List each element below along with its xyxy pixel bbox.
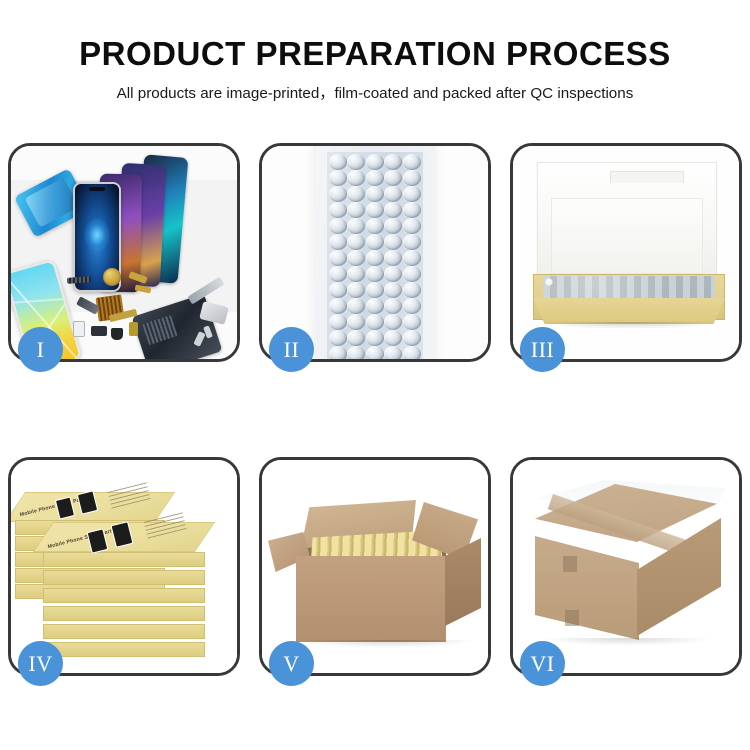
bubble	[403, 314, 421, 330]
bubble	[366, 266, 384, 282]
bubble	[366, 314, 384, 330]
bubble	[347, 282, 365, 298]
bubble	[384, 330, 402, 346]
bubble	[366, 298, 384, 314]
bubble	[403, 154, 421, 170]
bubble	[329, 234, 347, 250]
buzzer-part	[111, 328, 123, 340]
bubble	[366, 250, 384, 266]
bubble	[347, 202, 365, 218]
bubble	[329, 154, 347, 170]
box-side-face	[43, 642, 205, 657]
step-panel-6[interactable]: VI	[510, 457, 742, 676]
bubble	[384, 298, 402, 314]
bubble	[329, 282, 347, 298]
bubble	[403, 234, 421, 250]
box-side-face	[43, 552, 205, 567]
box-side-face	[43, 606, 205, 621]
charging-port-part	[129, 322, 138, 336]
process-steps-grid: I II III	[8, 143, 742, 676]
bubble	[329, 298, 347, 314]
bubble	[347, 266, 365, 282]
bubble	[403, 202, 421, 218]
bubble-wrap-bubbles	[327, 152, 423, 359]
step-badge-1: I	[18, 327, 63, 372]
bubble	[366, 282, 384, 298]
bubble	[384, 186, 402, 202]
bubble	[384, 314, 402, 330]
bubble	[347, 154, 365, 170]
bubble	[329, 186, 347, 202]
bubble	[403, 186, 421, 202]
bubble	[347, 314, 365, 330]
stacked-box	[43, 642, 205, 660]
bubble	[366, 170, 384, 186]
step-badge-5: V	[269, 641, 314, 686]
bubble	[366, 202, 384, 218]
bubble	[384, 282, 402, 298]
step-badge-6: VI	[520, 641, 565, 686]
bubble	[403, 282, 421, 298]
step-panel-5[interactable]: V	[259, 457, 491, 676]
bubble	[403, 298, 421, 314]
bubble	[384, 250, 402, 266]
carton-handle-tab	[563, 556, 577, 572]
product-preparation-infographic: PRODUCT PREPARATION PROCESS All products…	[0, 0, 750, 750]
bubble	[403, 218, 421, 234]
step-panel-1[interactable]: I	[8, 143, 240, 362]
bubble	[329, 250, 347, 266]
step-panel-4[interactable]: Mobile Phone Spare Parts	[8, 457, 240, 676]
carton-handle-tab	[565, 610, 579, 626]
bubble	[329, 170, 347, 186]
phone-notch	[89, 187, 105, 191]
bubble	[384, 154, 402, 170]
mailer-box-shadow	[535, 322, 723, 329]
bubble	[329, 346, 347, 359]
stacked-box	[43, 552, 205, 570]
bubble	[347, 346, 365, 359]
bubble	[329, 266, 347, 282]
carton-front-face	[296, 556, 446, 642]
bubble	[366, 154, 384, 170]
bubble	[366, 186, 384, 202]
mailer-box-liner	[551, 198, 703, 274]
mailer-box-lid-tab	[610, 171, 684, 183]
step-panel-3[interactable]: III	[510, 143, 742, 362]
bubble	[366, 346, 384, 359]
bubble	[403, 170, 421, 186]
bubble	[347, 170, 365, 186]
box-side-face	[43, 588, 205, 603]
bubble	[384, 170, 402, 186]
page-subtitle: All products are image-printed，film-coat…	[0, 85, 750, 103]
bubble	[366, 234, 384, 250]
bubble	[384, 234, 402, 250]
bubble	[384, 218, 402, 234]
step-badge-2: II	[269, 327, 314, 372]
step-badge-3: III	[520, 327, 565, 372]
step-badge-4: IV	[18, 641, 63, 686]
stacked-box	[43, 624, 205, 642]
vibrator-motor-part	[103, 268, 121, 286]
bubble	[347, 218, 365, 234]
box-side-face	[43, 624, 205, 639]
bubble	[403, 250, 421, 266]
bubble	[403, 346, 421, 359]
stacked-box	[43, 588, 205, 606]
bubble	[347, 330, 365, 346]
bubble	[329, 314, 347, 330]
step-panel-2[interactable]: II	[259, 143, 491, 362]
bubble	[347, 186, 365, 202]
bubble	[347, 250, 365, 266]
speaker-part	[91, 326, 107, 336]
bubble	[403, 330, 421, 346]
bubble	[384, 346, 402, 359]
carton-shadow	[298, 640, 478, 648]
bubble	[384, 266, 402, 282]
bubble	[347, 298, 365, 314]
bubble	[329, 202, 347, 218]
bubble	[329, 218, 347, 234]
mailer-box-front-panel	[533, 298, 725, 324]
box-side-face	[43, 570, 205, 585]
page-title: PRODUCT PREPARATION PROCESS	[0, 36, 750, 72]
bubble	[384, 202, 402, 218]
bubble	[403, 266, 421, 282]
bubble	[366, 330, 384, 346]
header: PRODUCT PREPARATION PROCESS All products…	[0, 0, 750, 104]
bubble	[366, 218, 384, 234]
small-lcd-part	[73, 321, 85, 337]
sealed-carton-shadow	[541, 638, 713, 646]
stacked-box	[43, 606, 205, 624]
bubble	[329, 330, 347, 346]
stacked-box	[43, 570, 205, 588]
bubble	[347, 234, 365, 250]
